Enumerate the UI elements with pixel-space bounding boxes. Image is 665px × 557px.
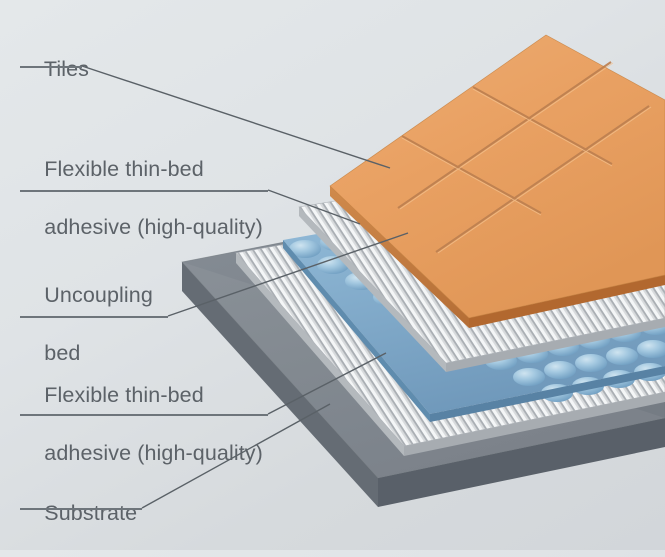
diagram-canvas — [0, 0, 665, 550]
leader-tiles — [82, 66, 390, 168]
label-adhesive-bottom-rule — [20, 414, 268, 416]
label-tiles-rule — [20, 66, 82, 68]
label-substrate-rule — [20, 508, 142, 510]
layer-diagram: Tiles Flexible thin-bed adhesive (high-q… — [0, 0, 665, 550]
leader-substrate — [142, 404, 330, 508]
label-adhesive-top-rule — [20, 190, 268, 192]
label-uncoupling-bed-rule — [20, 316, 168, 318]
